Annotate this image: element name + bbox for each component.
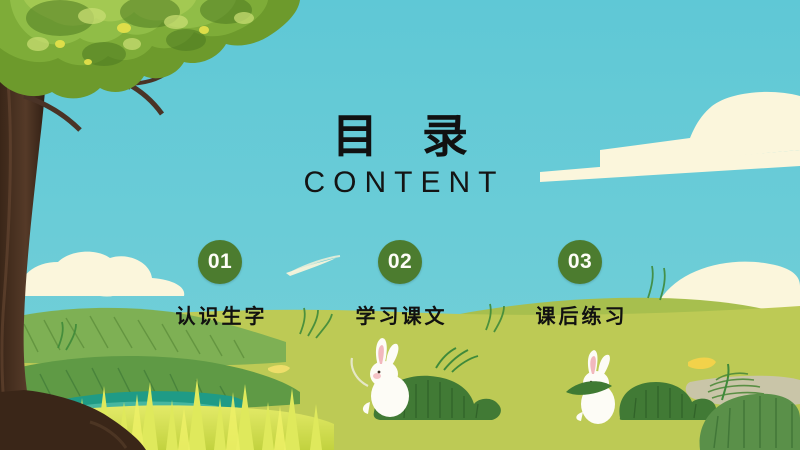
agenda-list: 01 认识生字 02 学习课文 03 课后练习 [0, 240, 800, 332]
page-subtitle: CONTENT [0, 166, 800, 200]
agenda-item-3[interactable]: 03 课后练习 [495, 240, 665, 329]
agenda-badge-1[interactable]: 01 [198, 240, 242, 284]
agenda-label-2: 学习课文 [315, 300, 485, 329]
agenda-number-3: 03 [568, 250, 592, 274]
agenda-number-2: 02 [388, 250, 412, 274]
title-block: 目 录 CONTENT [0, 112, 800, 200]
agenda-badge-2[interactable]: 02 [378, 240, 422, 284]
agenda-item-1[interactable]: 01 认识生字 [135, 240, 305, 329]
page-title: 目 录 [0, 112, 800, 160]
agenda-label-3: 课后练习 [495, 300, 665, 329]
agenda-number-1: 01 [208, 250, 232, 274]
agenda-item-2[interactable]: 02 学习课文 [315, 240, 485, 329]
agenda-label-1: 认识生字 [135, 300, 305, 329]
agenda-badge-3[interactable]: 03 [558, 240, 602, 284]
scenery-illustration [0, 0, 800, 450]
slide-canvas: 目 录 CONTENT 01 认识生字 02 学习课文 03 课后练习 [0, 0, 800, 450]
